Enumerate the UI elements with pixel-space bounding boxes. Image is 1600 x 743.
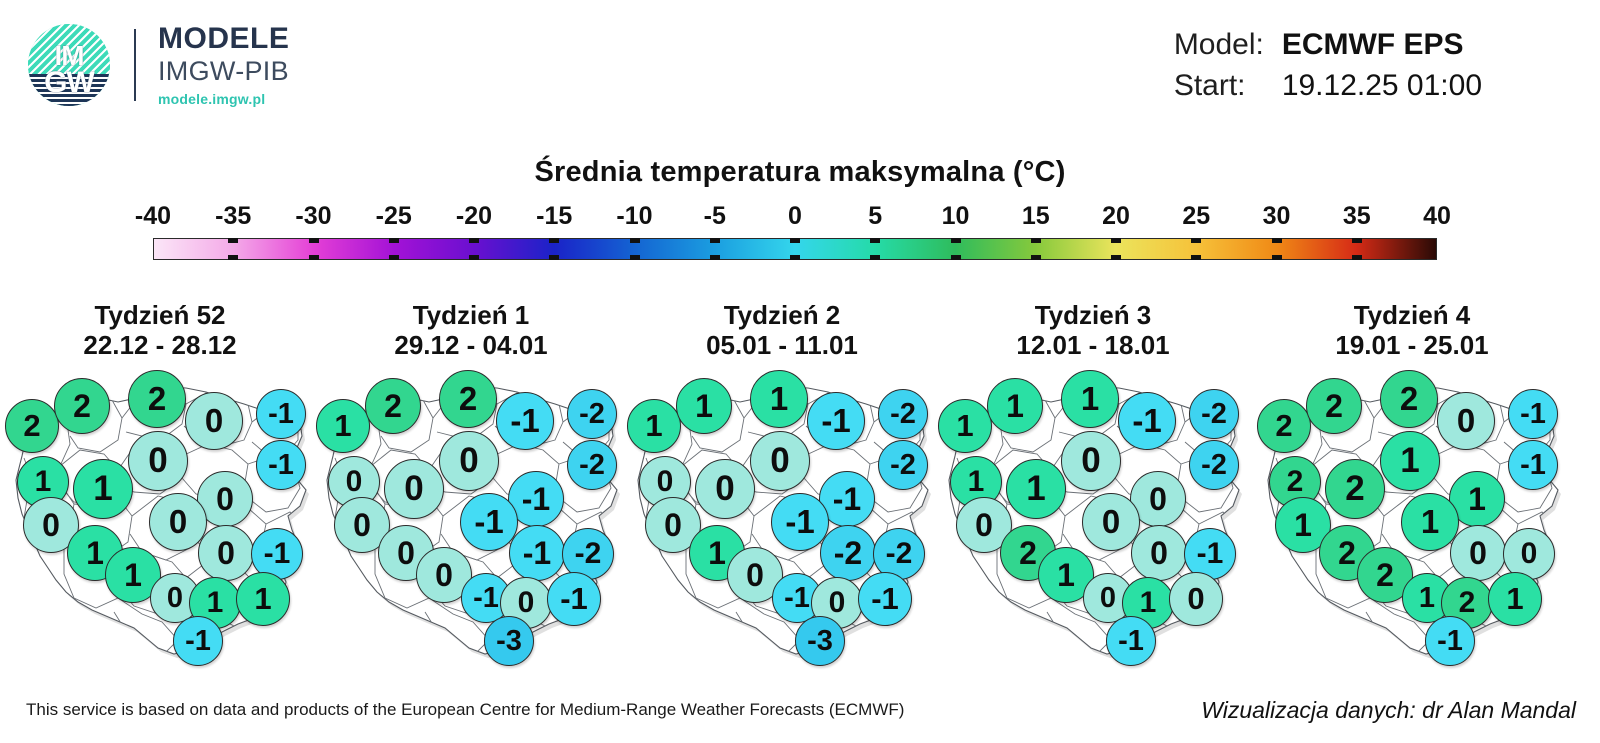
temperature-value: -1 xyxy=(1197,537,1224,571)
panel-week-label: Tydzień 4 xyxy=(1354,300,1471,330)
temperature-value: 0 xyxy=(148,441,167,481)
colorbar-tick--40: -40 xyxy=(135,202,171,231)
colorbar-mark--10 xyxy=(630,238,640,243)
temperature-bubble: 0 xyxy=(384,459,444,519)
temperature-value: 1 xyxy=(1506,581,1523,617)
temperature-value: -1 xyxy=(1437,625,1463,658)
temperature-value: 2 xyxy=(73,388,91,425)
brand-logo: IM GW MODELE IMGW-PIB modele.imgw.pl xyxy=(28,24,289,106)
temperature-value: 2 xyxy=(1019,535,1037,572)
temperature-value: 0 xyxy=(518,586,535,620)
temperature-value: 0 xyxy=(1457,402,1475,440)
colorbar-mark--30 xyxy=(309,238,319,243)
temperature-value: -3 xyxy=(807,625,833,658)
colorbar-tick--20: -20 xyxy=(456,202,492,231)
temperature-value: 1 xyxy=(334,408,351,444)
temperature-value: 1 xyxy=(1294,507,1312,544)
visualization-credit: Wizualizacja danych: dr Alan Mandal xyxy=(1201,697,1576,724)
temperature-value: 0 xyxy=(1469,535,1487,572)
colorbar-mark-30 xyxy=(1272,255,1282,260)
brand-subtitle: IMGW-PIB xyxy=(158,58,289,85)
colorbar-mark-25 xyxy=(1191,238,1201,243)
colorbar-mark--15 xyxy=(549,238,559,243)
colorbar-mark--20 xyxy=(469,238,479,243)
temperature-value: 1 xyxy=(35,465,52,499)
temperature-bubble: -1 xyxy=(256,389,306,439)
temperature-value: -3 xyxy=(496,625,522,658)
panel-title: Tydzień 5222.12 - 28.12 xyxy=(0,300,320,360)
temperature-bubble: 0 xyxy=(750,431,810,491)
logo-divider xyxy=(134,29,136,101)
temperature-value: 0 xyxy=(1100,582,1116,615)
temperature-value: 1 xyxy=(708,535,726,572)
temperature-value: 1 xyxy=(207,586,224,620)
temperature-bubble: 2 xyxy=(128,370,186,428)
poland-map: 2220-1-1011000110-1011-1 xyxy=(0,366,320,676)
colorbar-tick-40: 40 xyxy=(1423,202,1451,231)
temperature-bubble: 0 xyxy=(1450,525,1506,581)
temperature-bubble: 2 xyxy=(1306,378,1362,434)
temperature-value: -2 xyxy=(579,449,605,482)
temperature-bubble: 1 xyxy=(1061,370,1119,428)
temperature-bubble: -2 xyxy=(567,389,617,439)
temperature-value: -1 xyxy=(1520,398,1546,431)
colorbar-tick-25: 25 xyxy=(1182,202,1210,231)
temperature-value: -1 xyxy=(871,581,899,617)
temperature-value: -2 xyxy=(886,537,913,571)
temperature-bubble: -1 xyxy=(1508,389,1558,439)
temperature-bubble: 0 xyxy=(128,431,188,491)
temperature-bubble: 0 xyxy=(185,392,243,450)
temperature-value: 2 xyxy=(1338,535,1356,572)
temperature-bubble: -2 xyxy=(1189,440,1239,490)
temperature-bubble: 2 xyxy=(1325,459,1385,519)
temperature-value: 0 xyxy=(715,469,734,509)
colorbar-mark-0 xyxy=(790,238,800,243)
temperature-value: 1 xyxy=(1026,469,1045,509)
panel-week-label: Tydzień 2 xyxy=(724,300,841,330)
temperature-value: 0 xyxy=(346,465,363,499)
brand-url: modele.imgw.pl xyxy=(158,92,289,106)
model-value: ECMWF EPS xyxy=(1282,24,1464,65)
temperature-bubble: -1 xyxy=(858,572,912,626)
temperature-value: 1 xyxy=(1081,380,1099,418)
panel-title: Tydzień 419.01 - 25.01 xyxy=(1252,300,1572,360)
model-row: Model: ECMWF EPS xyxy=(1174,24,1482,65)
temperature-value: -1 xyxy=(1132,402,1161,440)
colorbar-mark--15 xyxy=(549,255,559,260)
temperature-value: -1 xyxy=(833,481,861,518)
temperature-bubble: -3 xyxy=(795,616,845,666)
poland-map: 2220-1-11221112200121-1 xyxy=(1252,366,1572,676)
temperature-bubble: 1 xyxy=(73,459,133,519)
temperature-value: -2 xyxy=(834,535,862,572)
colorbar-title: Średnia temperatura maksymalna (°C) xyxy=(0,156,1600,189)
forecast-panel-4: Tydzień 312.01 - 18.01111-1-2-2011000210… xyxy=(933,300,1253,690)
colorbar-tick-20: 20 xyxy=(1102,202,1130,231)
temperature-value: -2 xyxy=(1201,449,1227,482)
temperature-value: -1 xyxy=(784,582,810,615)
panel-title: Tydzień 205.01 - 11.01 xyxy=(622,300,942,360)
temperature-value: 1 xyxy=(1400,441,1419,481)
poland-map: 111-1-2-2000-1-1010-2-2-10-1-3 xyxy=(622,366,942,676)
colorbar-mark--35 xyxy=(228,238,238,243)
temperature-value: 0 xyxy=(217,535,235,572)
temperature-value: 1 xyxy=(1468,481,1486,518)
start-value: 19.12.25 01:00 xyxy=(1282,65,1482,106)
temperature-value: 1 xyxy=(645,408,662,444)
temperature-bubble: -1 xyxy=(509,525,565,581)
colorbar-mark--5 xyxy=(710,255,720,260)
temperature-bubble: -1 xyxy=(547,572,601,626)
temperature-value: 2 xyxy=(1287,465,1304,499)
temperature-value: -1 xyxy=(264,537,291,571)
panel-date-range: 19.01 - 25.01 xyxy=(1252,330,1572,360)
temperature-value: -1 xyxy=(821,402,850,440)
colorbar-tick-15: 15 xyxy=(1022,202,1050,231)
poland-map: 122-1-2-2000-1-1000-1-2-10-1-3 xyxy=(311,366,631,676)
panel-title: Tydzień 129.12 - 04.01 xyxy=(311,300,631,360)
colorbar-mark--5 xyxy=(710,238,720,243)
temperature-value: 0 xyxy=(435,557,453,594)
temperature-value: -1 xyxy=(560,581,588,617)
colorbar-mark-35 xyxy=(1352,238,1362,243)
panel-date-range: 05.01 - 11.01 xyxy=(622,330,942,360)
colorbar-tick-5: 5 xyxy=(868,202,882,231)
colorbar-tick-labels: -40-35-30-25-20-15-10-50510152025303540 xyxy=(150,202,1440,234)
temperature-value: 1 xyxy=(1006,388,1024,425)
temperature-value: 1 xyxy=(695,388,713,425)
temperature-value: 2 xyxy=(1400,380,1418,418)
colorbar-mark-30 xyxy=(1272,238,1282,243)
forecast-panel-5: Tydzień 419.01 - 25.012220-1-11221112200… xyxy=(1252,300,1572,690)
temperature-bubble: 0 xyxy=(1082,493,1140,551)
temperature-value: 0 xyxy=(353,507,371,544)
panel-date-range: 29.12 - 04.01 xyxy=(311,330,631,360)
temperature-value: 2 xyxy=(459,380,477,418)
temperature-bubble: -1 xyxy=(1425,616,1475,666)
colorbar-tick--30: -30 xyxy=(295,202,331,231)
model-metadata: Model: ECMWF EPS Start: 19.12.25 01:00 xyxy=(1174,24,1482,106)
temperature-value: 2 xyxy=(1459,586,1476,620)
imgw-circle-logo-icon: IM GW xyxy=(28,24,110,106)
temperature-bubble: 0 xyxy=(1061,431,1121,491)
colorbar-mark-15 xyxy=(1031,255,1041,260)
temperature-value: 1 xyxy=(124,557,142,594)
temperature-bubble: -2 xyxy=(567,440,617,490)
colorbar-mark--35 xyxy=(228,255,238,260)
temperature-bubble: -1 xyxy=(460,493,518,551)
colorbar-mark-5 xyxy=(870,255,880,260)
temperature-value: 2 xyxy=(1325,388,1343,425)
colorbar-tick-10: 10 xyxy=(942,202,970,231)
temperature-value: 1 xyxy=(1057,557,1075,594)
temperature-bubble: 0 xyxy=(1131,525,1187,581)
temperature-bubble: 1 xyxy=(316,399,370,453)
colorbar-mark-15 xyxy=(1031,238,1041,243)
colorbar-mark--10 xyxy=(630,255,640,260)
colorbar-tick--5: -5 xyxy=(704,202,726,231)
temperature-value: 0 xyxy=(1149,481,1167,518)
temperature-value: 0 xyxy=(167,582,183,615)
colorbar-tick-0: 0 xyxy=(788,202,802,231)
temperature-value: 2 xyxy=(1376,557,1394,594)
page-header: IM GW MODELE IMGW-PIB modele.imgw.pl Mod… xyxy=(0,0,1600,130)
temperature-value: 1 xyxy=(770,380,788,418)
temperature-value: -2 xyxy=(890,398,916,431)
colorbar-mark--20 xyxy=(469,255,479,260)
temperature-value: 1 xyxy=(86,535,104,572)
temperature-bubble: -1 xyxy=(256,440,306,490)
temperature-value: 0 xyxy=(216,481,234,518)
temperature-value: -1 xyxy=(522,481,550,518)
temperature-value: -2 xyxy=(579,398,605,431)
temperature-value: 1 xyxy=(1419,582,1435,615)
temperature-value: 0 xyxy=(205,402,223,440)
temperature-bubble: 1 xyxy=(1380,431,1440,491)
temperature-value: 0 xyxy=(657,465,674,499)
temperature-bubble: 1 xyxy=(1401,493,1459,551)
temperature-bubble: 0 xyxy=(1169,572,1223,626)
temperature-bubble: -2 xyxy=(820,525,876,581)
colorbar-mark-10 xyxy=(951,255,961,260)
temperature-bubble: 2 xyxy=(439,370,497,428)
colorbar-tick-30: 30 xyxy=(1263,202,1291,231)
temperature-value: 0 xyxy=(1187,581,1204,617)
colorbar-mark--25 xyxy=(389,238,399,243)
colorbar-mark-10 xyxy=(951,238,961,243)
colorbar-tick--10: -10 xyxy=(616,202,652,231)
colorbar-mark-35 xyxy=(1352,255,1362,260)
temperature-bubble: -2 xyxy=(878,389,928,439)
temperature-bubble: 0 xyxy=(1437,392,1495,450)
temperature-bubble: 0 xyxy=(198,525,254,581)
temperature-value: 2 xyxy=(1345,469,1364,509)
colorbar-tick--35: -35 xyxy=(215,202,251,231)
temperature-value: 2 xyxy=(1275,408,1292,444)
temperature-value: 0 xyxy=(42,507,60,544)
temperature-value: 0 xyxy=(1150,535,1168,572)
forecast-panel-2: Tydzień 129.12 - 04.01122-1-2-2000-1-100… xyxy=(311,300,631,690)
temperature-bubble: -1 xyxy=(173,616,223,666)
temperature-bubble: -1 xyxy=(1118,392,1176,450)
temperature-value: -1 xyxy=(185,625,211,658)
temperature-bubble: 1 xyxy=(1006,459,1066,519)
poland-map: 111-1-2-2011000210-1010-1 xyxy=(933,366,1253,676)
temperature-bubble: -1 xyxy=(807,392,865,450)
temperature-value: 2 xyxy=(148,380,166,418)
ecmwf-attribution: This service is based on data and produc… xyxy=(26,700,904,720)
colorbar-tick-marks xyxy=(153,238,1437,260)
temperature-bubble: 1 xyxy=(627,399,681,453)
temperature-bubble: -3 xyxy=(484,616,534,666)
forecast-panel-3: Tydzień 205.01 - 11.01111-1-2-2000-1-101… xyxy=(622,300,942,690)
temperature-bubble: -1 xyxy=(1508,440,1558,490)
temperature-bubble: 2 xyxy=(5,399,59,453)
temperature-value: 1 xyxy=(956,408,973,444)
model-label: Model: xyxy=(1174,24,1282,65)
temperature-value: -1 xyxy=(268,449,294,482)
panel-week-label: Tydzień 1 xyxy=(413,300,530,330)
colorbar-tick-35: 35 xyxy=(1343,202,1371,231)
panel-title: Tydzień 312.01 - 18.01 xyxy=(933,300,1253,360)
temperature-value: 0 xyxy=(1102,503,1120,541)
temperature-value: 0 xyxy=(397,535,415,572)
temperature-value: -1 xyxy=(523,535,551,572)
colorbar-mark--25 xyxy=(389,255,399,260)
temperature-bubble: 0 xyxy=(149,493,207,551)
temperature-value: -1 xyxy=(268,398,294,431)
temperature-value: 0 xyxy=(1521,537,1538,571)
colorbar-mark-20 xyxy=(1111,238,1121,243)
temperature-bubble: 0 xyxy=(695,459,755,519)
temperature-bubble: 1 xyxy=(1488,572,1542,626)
temperature-value: -2 xyxy=(575,537,602,571)
temperature-bubble: 2 xyxy=(1380,370,1438,428)
temperature-bubble: 1 xyxy=(938,399,992,453)
temperature-bubble: 1 xyxy=(987,378,1043,434)
temperature-value: 0 xyxy=(770,441,789,481)
temperature-value: 1 xyxy=(968,465,985,499)
brand-title: MODELE xyxy=(158,24,289,54)
temperature-bubble: 1 xyxy=(750,370,808,428)
temperature-value: 1 xyxy=(93,469,112,509)
forecast-panels: Tydzień 5222.12 - 28.122220-1-1011000110… xyxy=(0,300,1600,690)
temperature-bubble: 0 xyxy=(439,431,499,491)
panel-date-range: 12.01 - 18.01 xyxy=(933,330,1253,360)
temperature-bubble: -2 xyxy=(1189,389,1239,439)
temperature-bubble: 2 xyxy=(54,378,110,434)
temperature-bubble: 1 xyxy=(236,572,290,626)
temperature-value: 0 xyxy=(404,469,423,509)
colorbar-mark-25 xyxy=(1191,255,1201,260)
temperature-value: 1 xyxy=(1140,586,1157,620)
logo-gw-text: GW xyxy=(28,66,110,100)
panel-week-label: Tydzień 52 xyxy=(94,300,225,330)
colorbar-mark-0 xyxy=(790,255,800,260)
temperature-value: 0 xyxy=(664,507,682,544)
colorbar-tick--25: -25 xyxy=(376,202,412,231)
temperature-value: 2 xyxy=(23,408,40,444)
temperature-bubble: 2 xyxy=(365,378,421,434)
temperature-value: -2 xyxy=(1201,398,1227,431)
colorbar-mark--30 xyxy=(309,255,319,260)
colorbar-tick--15: -15 xyxy=(536,202,572,231)
temperature-bubble: 1 xyxy=(676,378,732,434)
temperature-value: 0 xyxy=(169,503,187,541)
temperature-bubble: -1 xyxy=(1106,616,1156,666)
temperature-bubble: -1 xyxy=(496,392,554,450)
panel-date-range: 22.12 - 28.12 xyxy=(0,330,320,360)
temperature-bubble: 2 xyxy=(1257,399,1311,453)
start-row: Start: 19.12.25 01:00 xyxy=(1174,65,1482,106)
temperature-value: -2 xyxy=(890,449,916,482)
temperature-value: -1 xyxy=(473,582,499,615)
temperature-value: 1 xyxy=(1421,503,1439,541)
temperature-value: -1 xyxy=(785,503,814,541)
temperature-bubble: -2 xyxy=(878,440,928,490)
temperature-value: 0 xyxy=(459,441,478,481)
temperature-bubble: -1 xyxy=(771,493,829,551)
temperature-value: 0 xyxy=(829,586,846,620)
forecast-panel-1: Tydzień 5222.12 - 28.122220-1-1011000110… xyxy=(0,300,320,690)
temperature-value: 1 xyxy=(254,581,271,617)
temperature-value: 0 xyxy=(975,507,993,544)
temperature-value: -1 xyxy=(1118,625,1144,658)
colorbar-mark-20 xyxy=(1111,255,1121,260)
temperature-value: 2 xyxy=(384,388,402,425)
temperature-value: -1 xyxy=(510,402,539,440)
temperature-value: -1 xyxy=(1520,449,1546,482)
panel-week-label: Tydzień 3 xyxy=(1035,300,1152,330)
start-label: Start: xyxy=(1174,65,1282,106)
colorbar-mark-5 xyxy=(870,238,880,243)
temperature-value: 0 xyxy=(746,557,764,594)
temperature-value: -1 xyxy=(474,503,503,541)
temperature-value: 0 xyxy=(1081,441,1100,481)
